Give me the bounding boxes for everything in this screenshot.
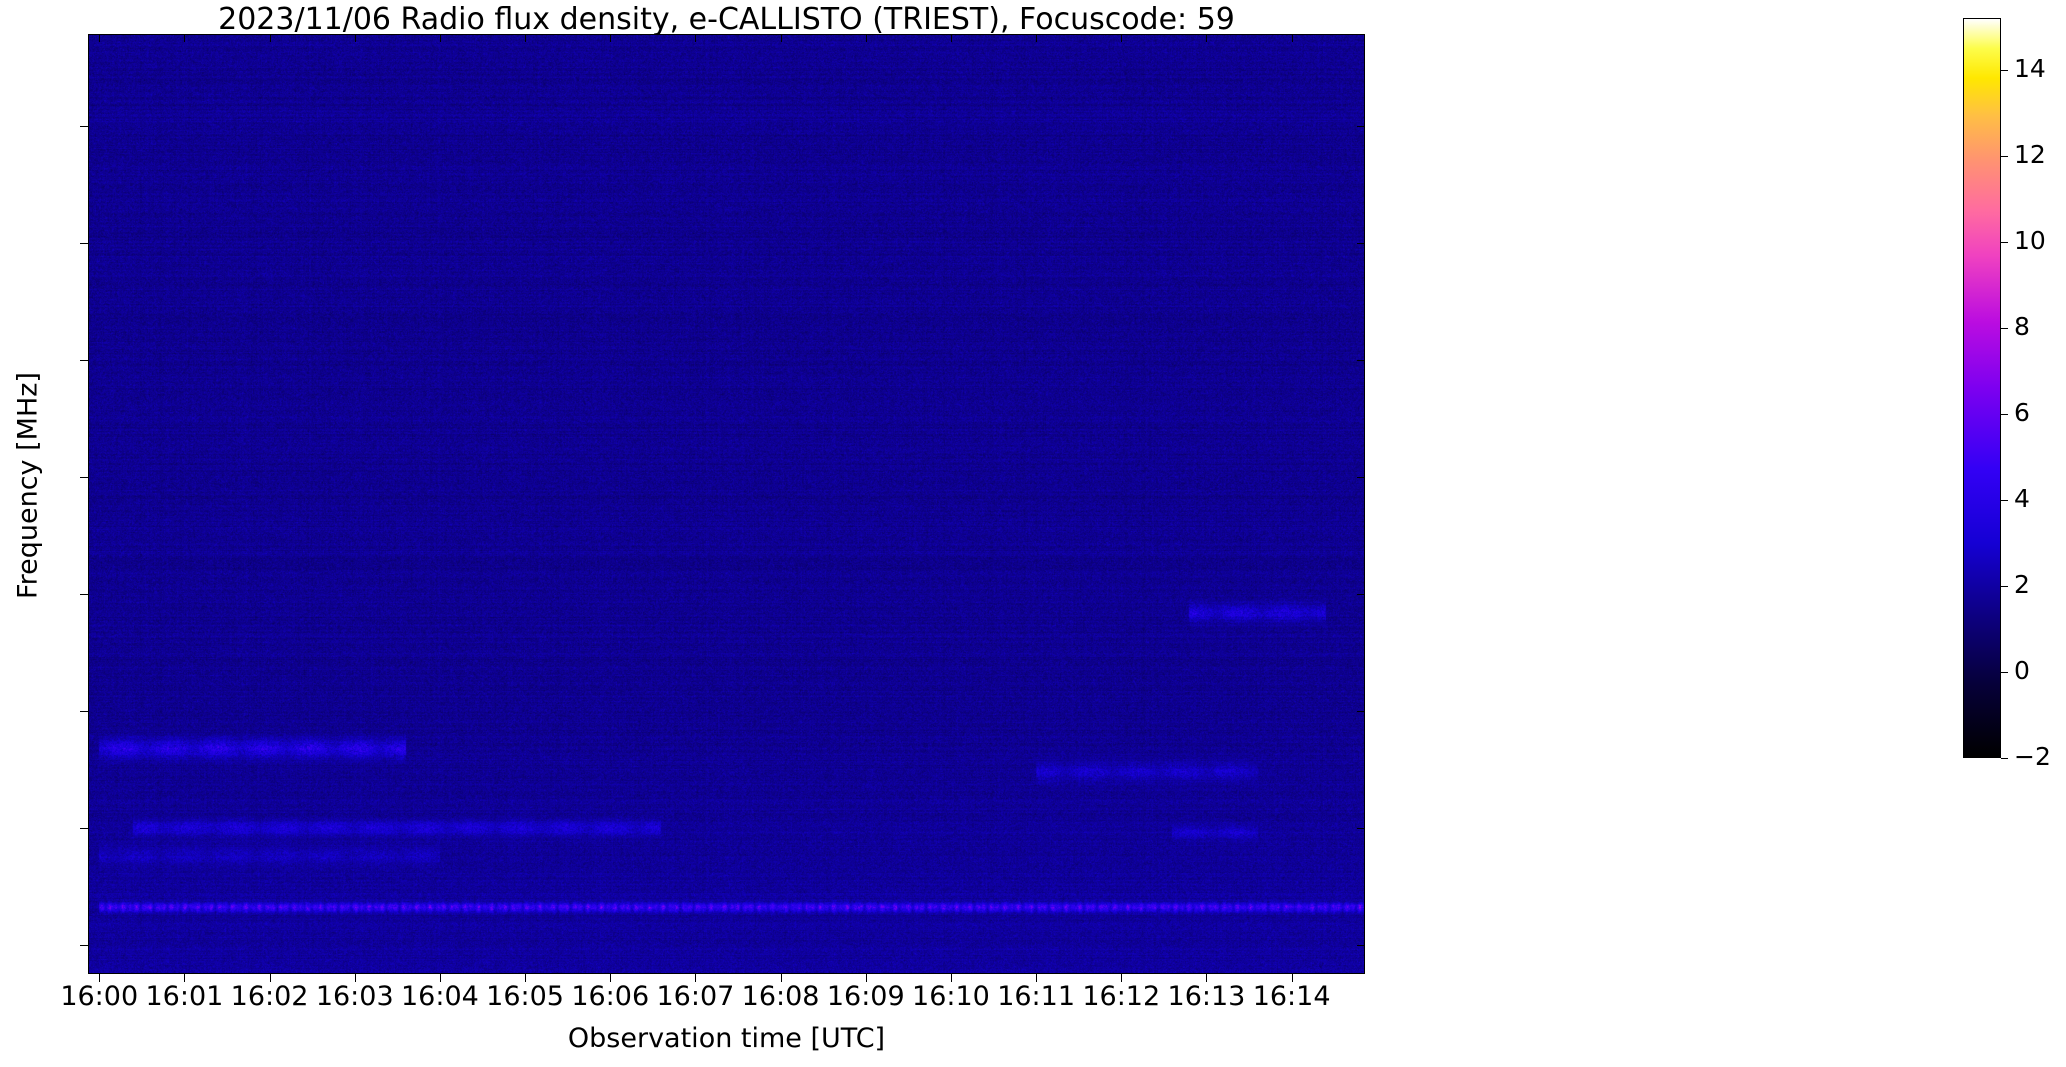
- x-tick-mark-top: [695, 34, 696, 42]
- colorbar-tick-mark: [2001, 586, 2008, 587]
- x-tick-mark-top: [1292, 34, 1293, 42]
- y-tick-mark: [80, 243, 88, 244]
- colorbar-tick-mark: [2001, 414, 2008, 415]
- x-tick-mark: [184, 974, 185, 982]
- x-tick-mark: [355, 974, 356, 982]
- y-tick-mark: [80, 945, 88, 946]
- x-tick-mark: [1036, 974, 1037, 982]
- y-tick-mark: [80, 477, 88, 478]
- x-tick-mark-top: [610, 34, 611, 42]
- y-tick-mark: [80, 594, 88, 595]
- x-tick-label: 16:14: [1222, 981, 1362, 1012]
- colorbar[interactable]: [1963, 18, 2001, 758]
- x-tick-mark-top: [1121, 34, 1122, 42]
- spectrogram-heatmap[interactable]: [89, 35, 1364, 973]
- x-tick-mark: [781, 974, 782, 982]
- x-tick-mark: [99, 974, 100, 982]
- x-tick-mark: [695, 974, 696, 982]
- x-tick-mark-top: [525, 34, 526, 42]
- spectrogram-figure: 2023/11/06 Radio flux density, e-CALLIST…: [0, 0, 2066, 1067]
- y-tick-mark-right: [1357, 243, 1365, 244]
- colorbar-tick-label: 2: [2014, 570, 2066, 599]
- y-tick-mark-right: [1357, 126, 1365, 127]
- colorbar-tick-mark: [2001, 70, 2008, 71]
- x-tick-mark-top: [1206, 34, 1207, 42]
- colorbar-tick-label: 12: [2014, 140, 2066, 169]
- colorbar-gradient: [1964, 19, 2000, 757]
- x-tick-mark-top: [440, 34, 441, 42]
- y-axis-label: Frequency [MHz]: [13, 226, 44, 746]
- x-tick-mark: [1121, 974, 1122, 982]
- colorbar-tick-mark: [2001, 500, 2008, 501]
- y-tick-mark: [80, 126, 88, 127]
- y-tick-mark-right: [1357, 360, 1365, 361]
- y-tick-mark-right: [1357, 945, 1365, 946]
- x-tick-mark: [440, 974, 441, 982]
- x-tick-mark: [1206, 974, 1207, 982]
- x-tick-mark-top: [1036, 34, 1037, 42]
- colorbar-tick-label: 8: [2014, 312, 2066, 341]
- spectrogram-plot-area[interactable]: [88, 34, 1365, 974]
- colorbar-tick-mark: [2001, 758, 2008, 759]
- colorbar-tick-label: 6: [2014, 398, 2066, 427]
- colorbar-tick-mark: [2001, 156, 2008, 157]
- y-tick-mark-right: [1357, 828, 1365, 829]
- colorbar-tick-label: 10: [2014, 226, 2066, 255]
- y-tick-mark: [80, 828, 88, 829]
- x-axis-label: Observation time [UTC]: [88, 1023, 1365, 1054]
- colorbar-tick-mark: [2001, 242, 2008, 243]
- colorbar-tick-mark: [2001, 328, 2008, 329]
- colorbar-tick-label: −2: [2014, 742, 2066, 771]
- y-tick-mark: [80, 711, 88, 712]
- x-tick-mark: [866, 974, 867, 982]
- y-tick-mark-right: [1357, 594, 1365, 595]
- x-tick-mark-top: [184, 34, 185, 42]
- x-tick-mark: [610, 974, 611, 982]
- x-tick-mark: [1292, 974, 1293, 982]
- colorbar-tick-label: 0: [2014, 656, 2066, 685]
- x-tick-mark: [951, 974, 952, 982]
- x-tick-mark-top: [99, 34, 100, 42]
- x-tick-mark-top: [270, 34, 271, 42]
- colorbar-tick-label: 14: [2014, 54, 2066, 83]
- x-tick-mark-top: [866, 34, 867, 42]
- x-tick-mark: [525, 974, 526, 982]
- x-tick-mark-top: [355, 34, 356, 42]
- page-title: 2023/11/06 Radio flux density, e-CALLIST…: [88, 2, 1365, 37]
- y-tick-mark-right: [1357, 711, 1365, 712]
- x-tick-mark: [270, 974, 271, 982]
- x-tick-mark-top: [781, 34, 782, 42]
- y-tick-mark: [80, 360, 88, 361]
- colorbar-tick-mark: [2001, 672, 2008, 673]
- y-tick-mark-right: [1357, 477, 1365, 478]
- colorbar-tick-label: 4: [2014, 484, 2066, 513]
- x-tick-mark-top: [951, 34, 952, 42]
